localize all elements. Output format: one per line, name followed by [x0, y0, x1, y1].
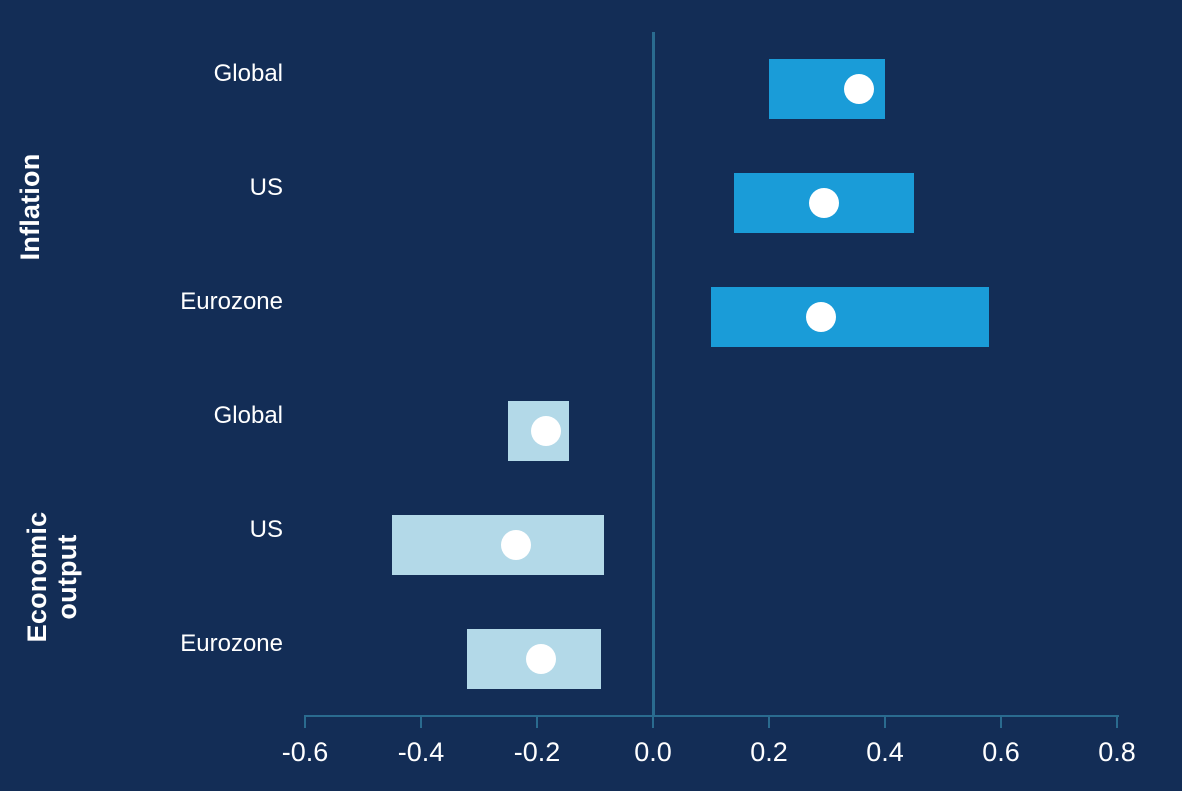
plot-area: GlobalUSEurozoneGlobalUSEurozone — [0, 0, 1182, 791]
x-tick-label: 0.2 — [709, 735, 829, 769]
category-label-global-0: Global — [0, 59, 283, 89]
point-estimate-dot — [526, 644, 556, 674]
x-tick-label: 0.4 — [825, 735, 945, 769]
x-tick-label: -0.6 — [245, 735, 365, 769]
x-tick-mark — [1116, 715, 1118, 728]
x-tick-mark — [304, 715, 306, 728]
point-estimate-dot — [806, 302, 836, 332]
x-tick-label: 0.8 — [1057, 735, 1177, 769]
x-tick-label: -0.4 — [361, 735, 481, 769]
x-tick-mark — [884, 715, 886, 728]
category-label-eurozone-5: Eurozone — [0, 629, 283, 659]
category-label-us-1: US — [0, 173, 283, 203]
x-tick-label: -0.2 — [477, 735, 597, 769]
category-label-eurozone-2: Eurozone — [0, 287, 283, 317]
category-label-global-3: Global — [0, 401, 283, 431]
x-tick-label: 0.6 — [941, 735, 1061, 769]
x-tick-label: 0.0 — [593, 735, 713, 769]
x-tick-mark — [420, 715, 422, 728]
x-tick-mark — [768, 715, 770, 728]
point-estimate-dot — [531, 416, 561, 446]
x-axis-line — [305, 715, 1119, 717]
range-chart: Inflation Economic output GlobalUSEurozo… — [0, 0, 1182, 791]
zero-reference-line — [652, 32, 655, 716]
point-estimate-dot — [844, 74, 874, 104]
x-tick-mark — [652, 715, 654, 728]
range-bar — [392, 515, 604, 575]
x-tick-mark — [536, 715, 538, 728]
point-estimate-dot — [501, 530, 531, 560]
point-estimate-dot — [809, 188, 839, 218]
category-label-us-4: US — [0, 515, 283, 545]
x-tick-mark — [1000, 715, 1002, 728]
range-bar — [711, 287, 989, 347]
